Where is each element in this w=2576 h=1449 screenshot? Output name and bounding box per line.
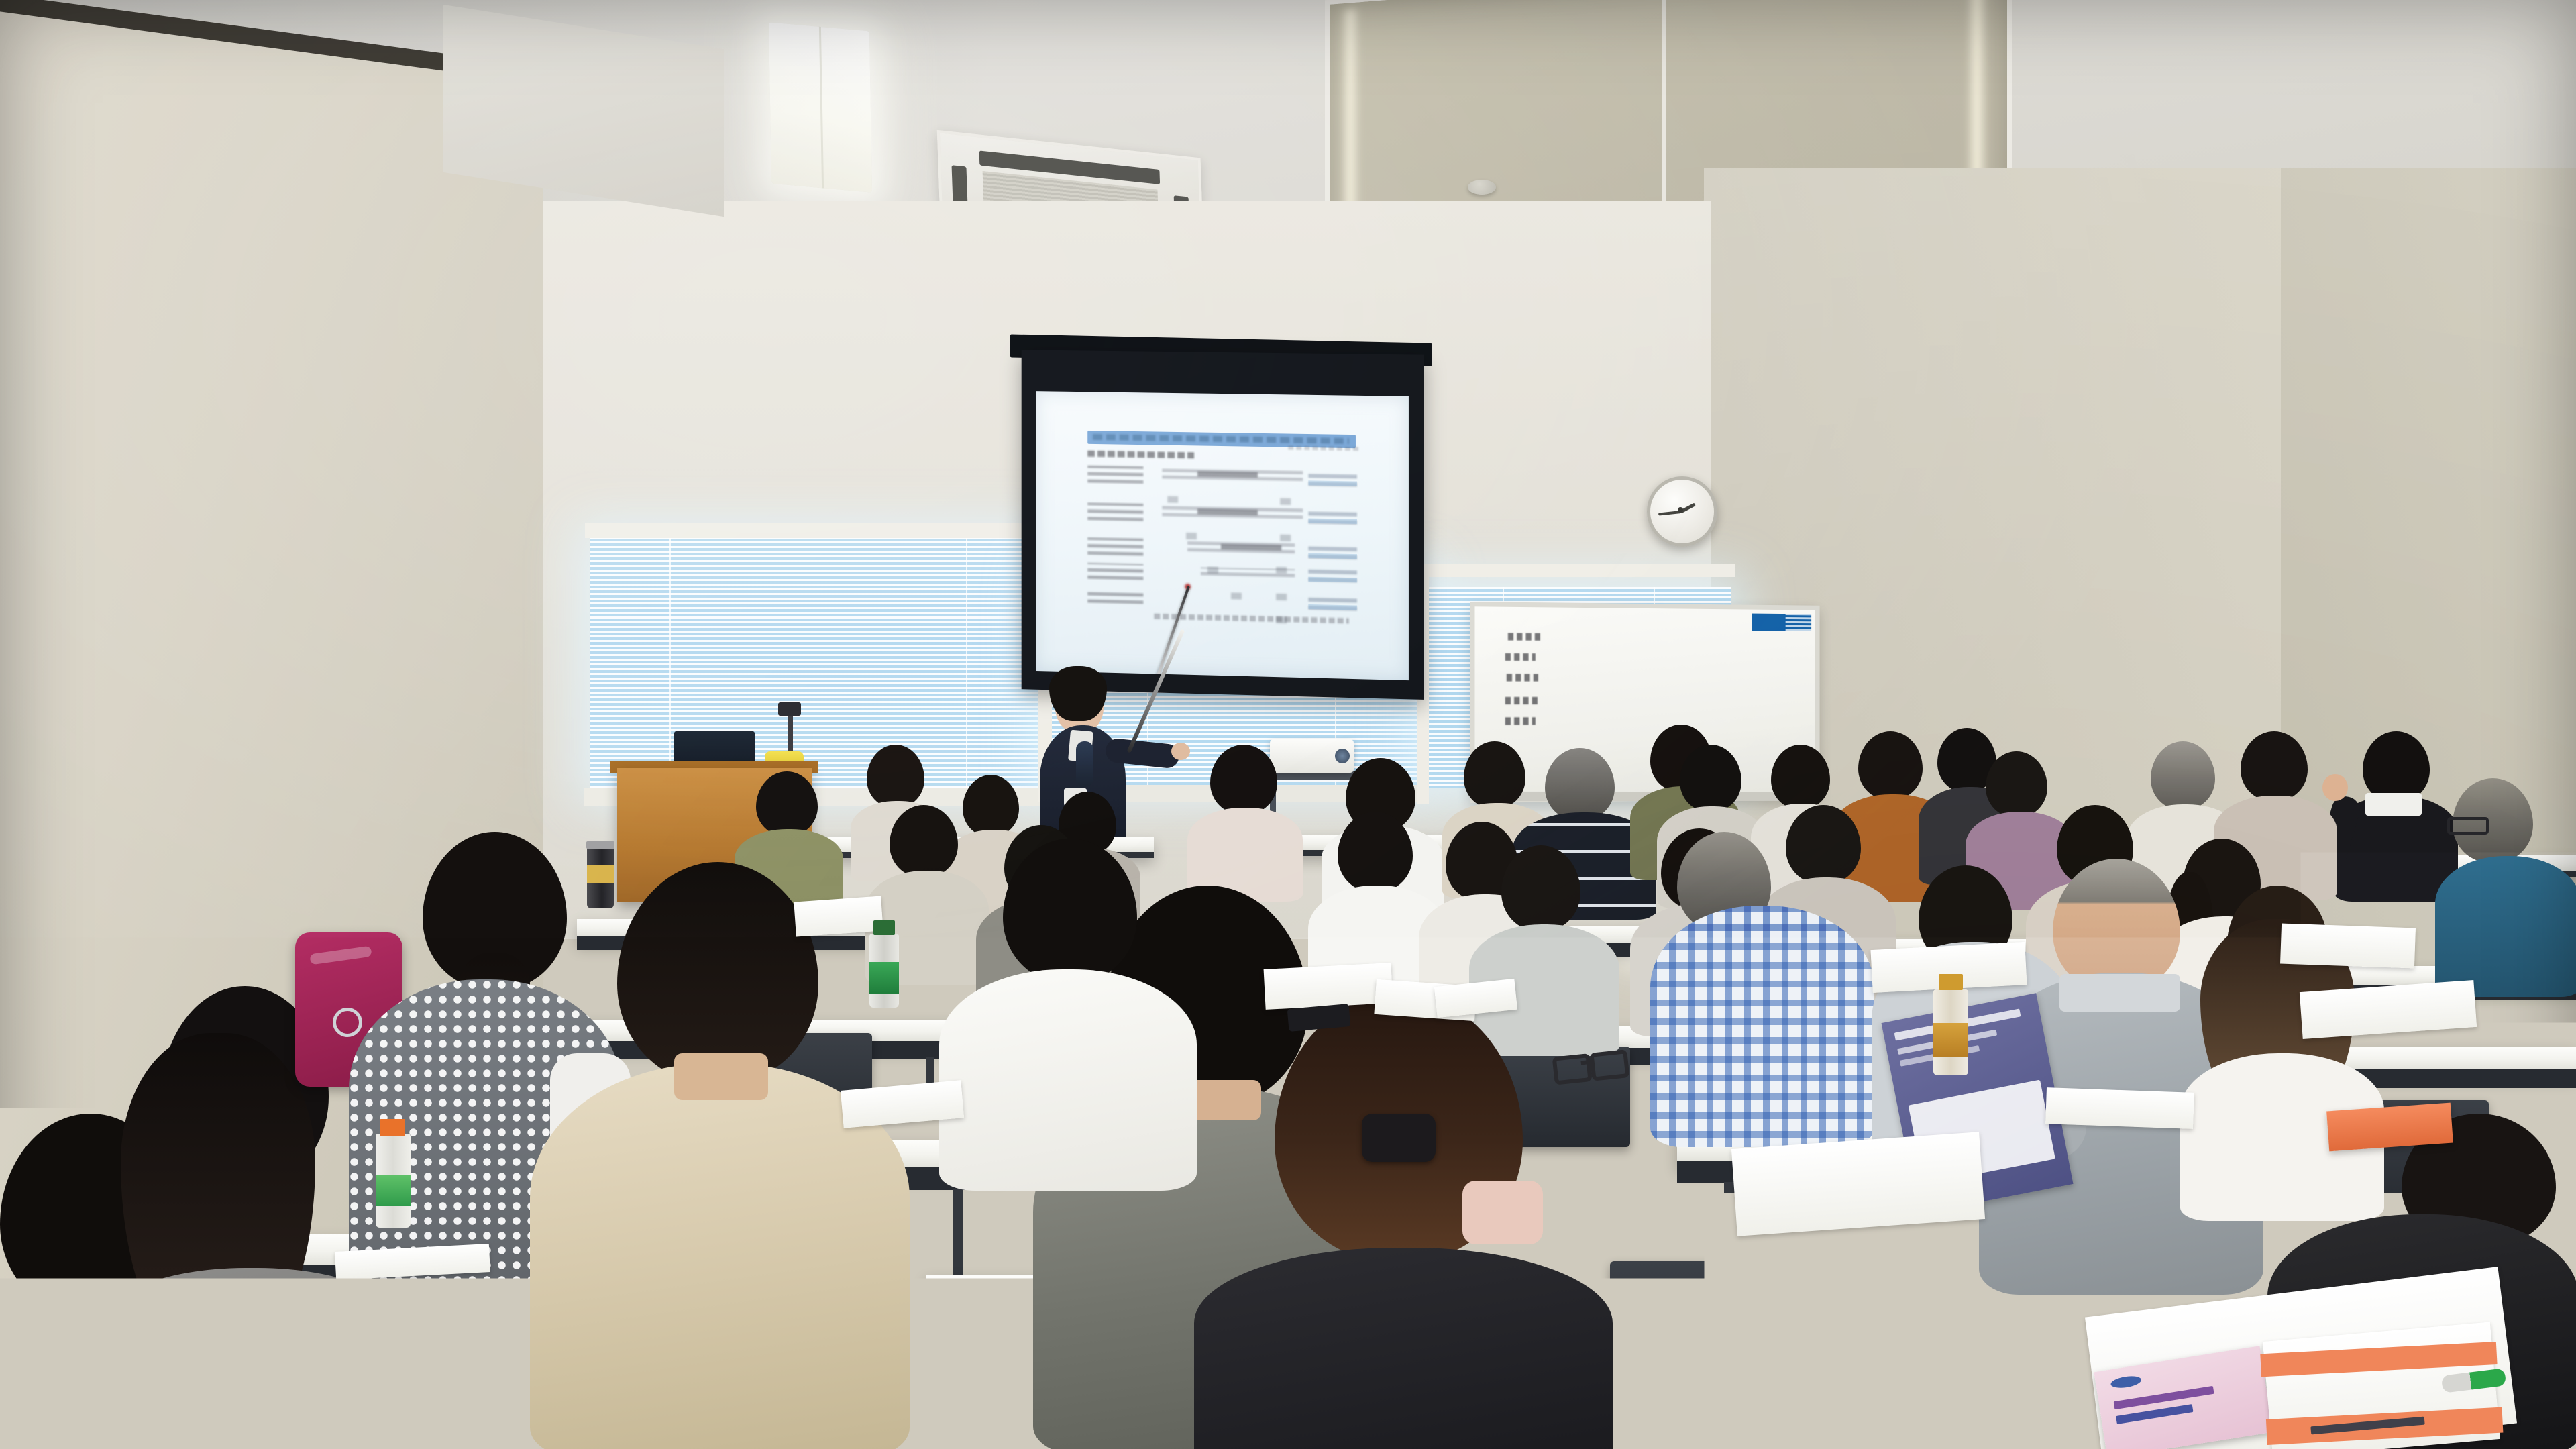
hair-clip — [1362, 1114, 1436, 1162]
whiteboard-handwriting-line — [1505, 653, 1536, 661]
attendee-blue-check-shirt — [1650, 859, 1872, 1140]
neck — [674, 1053, 768, 1100]
attendee-beige-jacket — [530, 862, 906, 1449]
clock-center-pin — [1678, 507, 1683, 513]
projection-screen-surface — [1036, 391, 1409, 680]
whiteboard-handwriting-line — [1507, 674, 1538, 681]
eyeglasses — [2447, 817, 2489, 835]
face-mask — [1462, 1181, 1543, 1244]
venetian-blinds[interactable] — [590, 537, 1046, 792]
handout-paper — [794, 896, 883, 937]
notebook — [1731, 1132, 1985, 1236]
shirt-collar — [2365, 793, 2422, 816]
jacket-collar — [2059, 974, 2180, 1012]
bottle-cap — [1939, 974, 1963, 990]
chair — [1610, 1261, 1811, 1449]
slide-subtitle — [1087, 451, 1194, 459]
handout-paper — [2280, 924, 2416, 969]
slide-row — [1087, 563, 1356, 596]
slide-row — [1087, 502, 1356, 535]
attendee — [1187, 745, 1301, 899]
presenter-hair — [1049, 666, 1107, 721]
brochure-orange — [2326, 1103, 2453, 1152]
attendee — [939, 839, 1194, 1187]
slide-title-text — [1093, 434, 1349, 444]
attendee-teal-shirt-glasses — [2435, 778, 2576, 993]
seminar-room-photo: Japanese seminar / training room, audien… — [0, 0, 2576, 1449]
attendee — [1194, 993, 1610, 1449]
can-top — [586, 841, 614, 849]
presentation-slide — [1087, 431, 1356, 637]
window-left — [590, 537, 1046, 792]
tea-bottle — [1933, 989, 1968, 1075]
whiteboard-handwriting-line — [1505, 697, 1540, 704]
water-bottle — [376, 1134, 411, 1228]
wall-clock — [1647, 476, 1717, 547]
microphone-head — [778, 702, 801, 716]
projection-screen — [1022, 350, 1424, 700]
slide-row — [1087, 466, 1356, 497]
orange-header-band — [2260, 1342, 2497, 1377]
slide-header-note — [1288, 446, 1359, 451]
bottle-cap — [873, 920, 895, 935]
whiteboard-handwriting-line — [1505, 717, 1536, 724]
tea-bottle — [869, 934, 899, 1008]
handout-paper — [2045, 1087, 2194, 1129]
whiteboard-placard-text — [1786, 614, 1811, 631]
coffee-can — [587, 847, 614, 908]
handout-paper — [1264, 963, 1393, 1010]
bottle-cap — [380, 1119, 405, 1136]
whiteboard-handwriting-line — [1508, 633, 1544, 641]
window-head — [585, 523, 1055, 538]
handheld-microphone — [1076, 741, 1093, 787]
